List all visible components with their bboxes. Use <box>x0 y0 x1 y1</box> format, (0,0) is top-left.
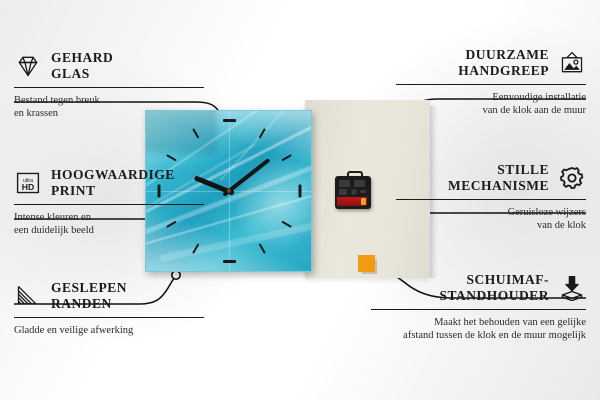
infographic-stage: GEHARD GLAS Bestand tegen breuk en krass… <box>0 0 600 400</box>
feature-stille-mechanisme[interactable]: STILLE MECHANISME Geruisloze wijzers van… <box>396 162 586 232</box>
picture-frame-icon <box>558 50 586 76</box>
diamond-icon <box>14 53 42 79</box>
hour-marker <box>223 260 236 263</box>
feature-desc-line2: van de klok aan de muur <box>396 104 586 117</box>
feature-title-line2: MECHANISME <box>448 178 549 194</box>
feature-desc-line2: van de klok <box>396 219 586 232</box>
feature-geslepen-randen[interactable]: GESLEPEN RANDEN Gladde en veilige afwerk… <box>14 280 204 337</box>
feature-title-line2: PRINT <box>51 183 175 199</box>
feature-title-line2: STANDHOUDER <box>439 288 549 304</box>
feature-divider <box>396 199 586 200</box>
feature-title-line1: GESLEPEN <box>51 280 127 296</box>
feature-divider <box>14 87 204 88</box>
feature-desc-line1: Gladde en veilige afwerking <box>14 324 204 337</box>
feature-schuimafstandhouder[interactable]: SCHUIMAF- STANDHOUDER Maakt het behouden… <box>371 272 586 342</box>
feature-duurzame-handgreep[interactable]: DUURZAME HANDGREEP Eenvoudige installati… <box>396 47 586 117</box>
battery <box>337 197 367 206</box>
feature-title-line2: HANDGREEP <box>458 63 549 79</box>
feature-desc-line2: afstand tussen de klok en de muur mogeli… <box>371 329 586 342</box>
foam-spacer <box>358 255 375 272</box>
feature-desc-line2: een duidelijk beeld <box>14 224 204 237</box>
gear-icon <box>558 165 586 191</box>
feature-desc-line1: Maakt het behouden van een gelijke <box>371 316 586 329</box>
feature-title-line1: GEHARD <box>51 50 113 66</box>
clock-center-pin <box>227 189 231 193</box>
svg-text:HD: HD <box>22 182 35 192</box>
feature-title-line1: STILLE <box>448 162 549 178</box>
bevelled-edge-icon <box>14 283 42 309</box>
feature-title-line1: SCHUIMAF- <box>439 272 549 288</box>
feature-title-line2: GLAS <box>51 66 113 82</box>
feature-desc-line1: Intense kleuren en <box>14 211 204 224</box>
feature-desc-line2: en krassen <box>14 107 204 120</box>
feature-desc-line1: Bestand tegen breuk <box>14 94 204 107</box>
feature-divider <box>14 317 204 318</box>
ultra-hd-badge-icon: ultra HD <box>14 170 42 196</box>
hour-marker <box>223 119 236 122</box>
feature-title-line1: DUURZAME <box>458 47 549 63</box>
hour-marker <box>298 185 301 198</box>
clock-mechanism <box>335 176 371 209</box>
feature-hoogwaardige-print[interactable]: ultra HD HOOGWAARDIGE PRINT Intense kleu… <box>14 167 204 237</box>
feature-divider <box>371 309 586 310</box>
feature-divider <box>396 84 586 85</box>
feature-title-line1: HOOGWAARDIGE <box>51 167 175 183</box>
foam-spacer-icon <box>558 275 586 301</box>
feature-desc-line1: Geruisloze wijzers <box>396 206 586 219</box>
feature-desc-line1: Eenvoudige installatie <box>396 91 586 104</box>
feature-title-line2: RANDEN <box>51 296 127 312</box>
feature-divider <box>14 204 204 205</box>
feature-gehard-glas[interactable]: GEHARD GLAS Bestand tegen breuk en krass… <box>14 50 204 120</box>
